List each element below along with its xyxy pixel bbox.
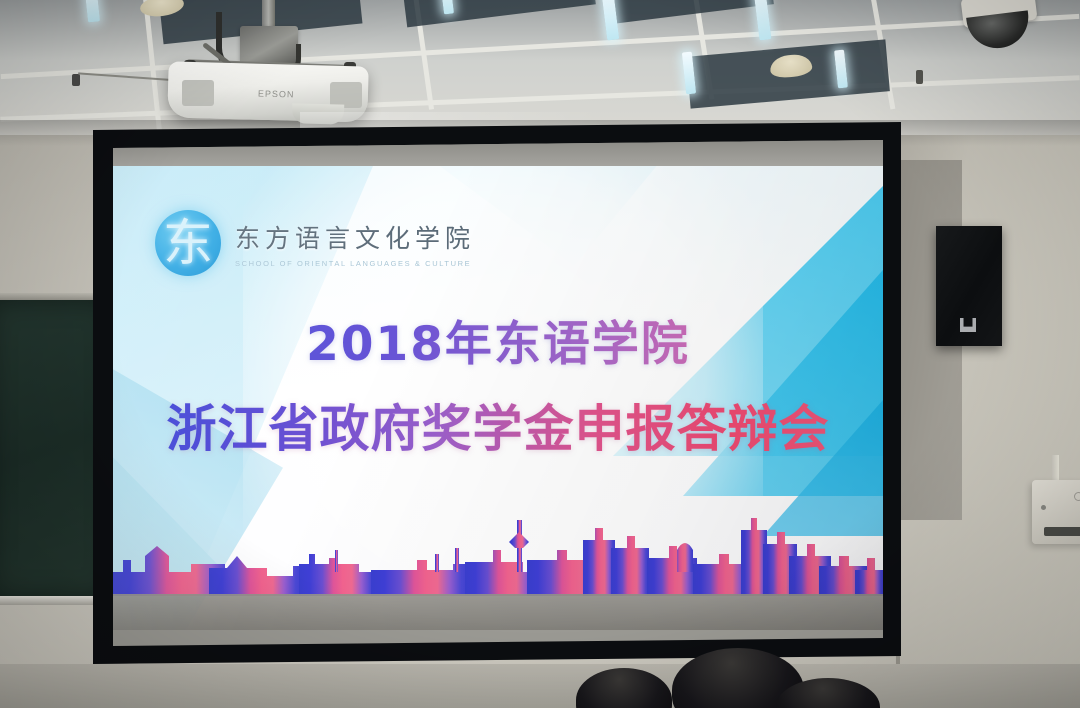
projector-vent — [182, 80, 214, 106]
suspended-ceiling — [0, 0, 1080, 135]
control-box-indicator — [1041, 505, 1046, 510]
slide-title-block: 2018年东语学院 浙江省政府奖学金申报答辩会 — [113, 316, 883, 460]
control-box-knob[interactable] — [1074, 492, 1080, 501]
school-logo: 东 东方语言文化学院 SCHOOL OF ORIENTAL LANGUAGES … — [155, 210, 475, 276]
logo-glyph-dong: 东 — [155, 210, 221, 276]
school-name-cn: 东方语言文化学院 — [235, 219, 475, 255]
control-box-slot — [1044, 527, 1080, 536]
classroom-photo: EPSON 东 — [0, 0, 1080, 708]
slide-title-line1: 2018年东语学院 — [113, 316, 883, 373]
city-skyline-silhouette — [113, 510, 883, 596]
school-name-en: SCHOOL OF ORIENTAL LANGUAGES & CULTURE — [235, 259, 475, 268]
ceiling-hook — [72, 74, 80, 86]
lower-wall — [0, 664, 1080, 708]
projector-brand-label: EPSON — [258, 89, 295, 100]
slide-bottom-letterbox — [113, 594, 883, 630]
projection-screen-surface: 东 东方语言文化学院 SCHOOL OF ORIENTAL LANGUAGES … — [113, 140, 883, 646]
logo-emblem-icon: 东 — [155, 210, 221, 276]
projector-lens — [292, 103, 345, 124]
presentation-slide: 东 东方语言文化学院 SCHOOL OF ORIENTAL LANGUAGES … — [113, 166, 883, 630]
slide-title-line2: 浙江省政府奖学金申报答辩会 — [113, 399, 883, 460]
ceiling-hook — [916, 70, 923, 84]
